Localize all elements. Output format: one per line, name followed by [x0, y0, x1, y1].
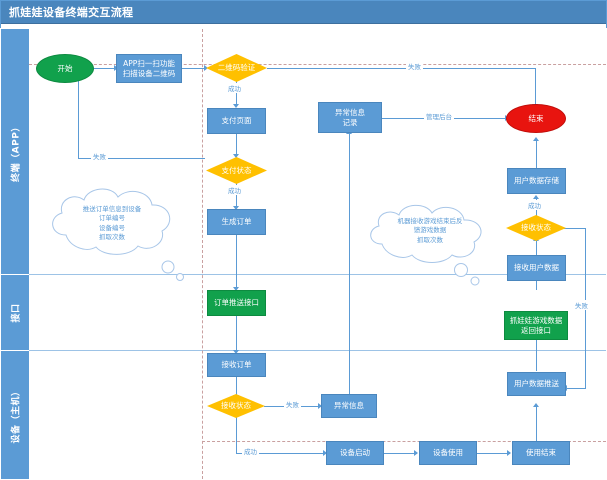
node-generate-order[interactable]: 生成订单 [207, 209, 266, 235]
arrowhead-deviceuse-to-useend [507, 450, 511, 456]
node-end-label: 结束 [527, 114, 546, 123]
lane-divider-dashed [202, 29, 203, 479]
node-app-scan-label-line2: 扫描设备二维码 [121, 69, 178, 78]
edge-label-recvstatus-success-r: 成功 [526, 200, 543, 210]
node-receive-order[interactable]: 接收订单 [207, 353, 266, 377]
lane-header-interface: 接口 [1, 275, 29, 351]
edge-label-pay-success: 成功 [226, 185, 243, 195]
node-user-data-push[interactable]: 用户数据推送 [507, 372, 566, 396]
lane-header-terminal: 终端（APP） [1, 29, 29, 275]
node-error-log-label-line1: 异常信息 [333, 108, 367, 117]
arrowhead-devicestart-to-deviceuse [414, 450, 418, 456]
arrowhead-useend-to-push [533, 403, 539, 407]
node-user-data-store-label: 用户数据存储 [512, 176, 561, 185]
node-app-scan-label-line1: APP扫一扫功能 [121, 59, 177, 68]
edge-label-admin-backend: 管理后台 [424, 111, 454, 121]
node-device-start-label: 设备启动 [338, 448, 372, 457]
cloud-left-line-4: 抓取次数 [42, 233, 182, 242]
cloud-left-line-2: 订单编号 [42, 214, 182, 223]
lane-label-device: 设备（主机） [9, 386, 22, 443]
node-receive-status-device-label: 接收状态 [219, 401, 253, 410]
cloud-text-right: 机器接收游戏结束后反 馈游戏数据 抓取次数 [360, 217, 500, 245]
edge-scan-to-qr [181, 68, 206, 69]
node-error-info-label: 异常信息 [332, 401, 366, 410]
edge-label-recvstatus-fail-b: 失败 [284, 399, 301, 409]
edge-label-qr-fail: 失败 [406, 61, 423, 71]
cloud-annotation-right: 机器接收游戏结束后反 馈游戏数据 抓取次数 [360, 200, 500, 272]
node-pay-page[interactable]: 支付页面 [207, 108, 266, 134]
edge-label-qr-success: 成功 [226, 83, 243, 93]
edge-recvstatus-success-down [236, 417, 237, 453]
node-error-log[interactable]: 异常信息 记录 [318, 102, 382, 133]
cloud-right-line-2: 馈游戏数据 [360, 226, 500, 235]
node-end[interactable]: 结束 [506, 104, 566, 133]
edge-label-recvstatus-fail-r: 失败 [573, 300, 590, 310]
cloud-text-left: 推送订单信息到设备 订单编号 设备编号 抓取次数 [42, 205, 182, 243]
edge-paypage-to-paystatus [236, 133, 237, 156]
node-receive-user-data[interactable]: 接收用户数据 [507, 255, 566, 281]
edge-devicestart-to-deviceuse [384, 453, 417, 454]
edge-recvstatus-r-fail-in [566, 388, 586, 389]
node-receive-order-label: 接收订单 [220, 360, 254, 369]
node-use-end-label: 使用结束 [524, 448, 558, 457]
node-game-data-api-label-line1: 抓娃娃游戏数据 [508, 316, 565, 325]
node-receive-status-terminal[interactable]: 接收状态 [506, 215, 566, 241]
diagram-canvas: 终端（APP） 接口 设备（主机） 推送订单信息到设备 订单编号 设备编号 抓取… [0, 28, 607, 480]
node-use-end[interactable]: 使用结束 [512, 441, 570, 465]
node-user-data-store[interactable]: 用户数据存储 [507, 168, 566, 194]
node-receive-status-terminal-label: 接收状态 [519, 223, 553, 232]
node-start-label: 开始 [56, 64, 75, 73]
node-device-use-label: 设备使用 [431, 448, 465, 457]
node-error-info[interactable]: 异常信息 [321, 394, 377, 418]
arrowhead-store-to-end [533, 137, 539, 141]
edge-qr-fail-down [535, 68, 536, 106]
edge-errinfo-to-errlog [349, 133, 350, 396]
node-receive-user-data-label: 接收用户数据 [512, 263, 561, 272]
node-pay-status[interactable]: 支付状态 [206, 157, 267, 184]
edge-label-recvstatus-success-b: 成功 [242, 446, 259, 456]
node-error-log-label-line2: 记录 [341, 118, 360, 127]
cloud-left-line-3: 设备编号 [42, 224, 182, 233]
edge-genorder-to-api [236, 235, 237, 289]
node-receive-status-device[interactable]: 接收状态 [207, 394, 265, 418]
edge-api-to-recvorder [236, 316, 237, 352]
node-pay-status-label: 支付状态 [220, 166, 254, 175]
node-pay-page-label: 支付页面 [220, 116, 254, 125]
flowchart-page: 抓娃娃设备终端交互流程 终端（APP） 接口 设备（主机） 推送订单信息到设备 [0, 0, 607, 480]
cloud-right-line-3: 抓取次数 [360, 236, 500, 245]
edge-pay-fail-up [78, 72, 79, 158]
node-start[interactable]: 开始 [36, 54, 94, 83]
cloud-right-line-1: 机器接收游戏结束后反 [360, 217, 500, 226]
node-order-push-api[interactable]: 订单推送接口 [207, 290, 266, 316]
node-qr-verify[interactable]: 二维码验证 [206, 54, 267, 82]
node-qr-verify-label: 二维码验证 [216, 63, 258, 72]
edge-deviceuse-to-useend [477, 453, 510, 454]
node-generate-order-label: 生成订单 [220, 217, 254, 226]
lane-header-device: 设备（主机） [1, 351, 29, 479]
edge-label-pay-fail: 失败 [91, 151, 108, 161]
cloud-left-line-1: 推送订单信息到设备 [42, 205, 182, 214]
node-device-start[interactable]: 设备启动 [326, 441, 384, 465]
node-order-push-api-label: 订单推送接口 [212, 298, 261, 307]
edge-recvuser-to-status [536, 240, 537, 256]
cloud-annotation-left: 推送订单信息到设备 订单编号 设备编号 抓取次数 [42, 183, 182, 268]
node-game-data-api[interactable]: 抓娃娃游戏数据 返回接口 [504, 311, 568, 340]
lane-label-interface: 接口 [9, 303, 22, 322]
edge-useend-to-push [536, 406, 537, 443]
node-device-use[interactable]: 设备使用 [419, 441, 477, 465]
edge-qr-fail [267, 68, 535, 69]
lane-label-terminal: 终端（APP） [9, 122, 22, 182]
arrowhead-recvstatus-r-success [533, 195, 539, 199]
edge-start-to-scan [94, 68, 116, 69]
edge-store-to-end [536, 140, 537, 168]
node-user-data-push-label: 用户数据推送 [512, 379, 561, 388]
node-game-data-api-label-line2: 返回接口 [519, 326, 553, 335]
node-app-scan[interactable]: APP扫一扫功能 扫描设备二维码 [116, 54, 182, 83]
